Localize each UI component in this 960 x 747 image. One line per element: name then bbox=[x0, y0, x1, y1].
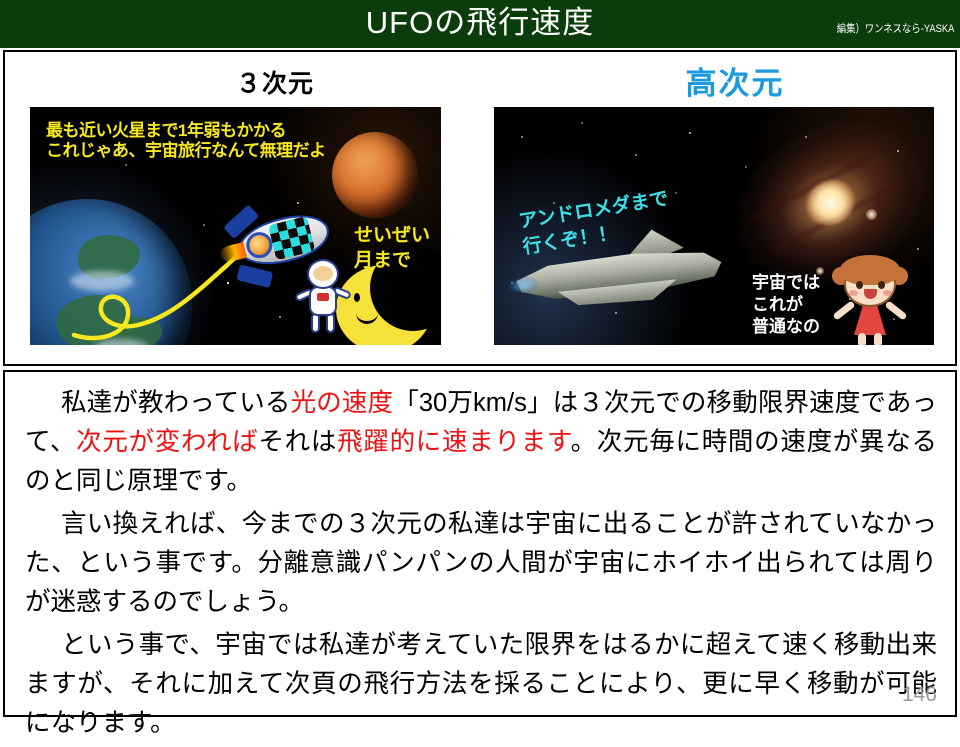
body-paragraph: 私達が教わっている光の速度「30万km/s」は３次元での移動限界速度であって、次… bbox=[25, 384, 937, 501]
companion-galaxy bbox=[866, 209, 877, 220]
body-paragraphs: 私達が教わっている光の速度「30万km/s」は３次元での移動限界速度であって、次… bbox=[25, 384, 937, 747]
plain-text: 私達が教わっている bbox=[61, 389, 291, 417]
highlighted-text: 光の速度 bbox=[291, 389, 394, 417]
slide-title-bar: UFOの飛行速度 編集）ワンネスなら-YASKA bbox=[0, 0, 960, 48]
mars-planet bbox=[332, 132, 418, 218]
heading-three-dimension: ３次元 bbox=[145, 64, 405, 100]
highlighted-text: 飛躍的に速まります bbox=[337, 428, 570, 456]
astronaut-icon bbox=[295, 259, 353, 335]
attribution-label: 編集）ワンネスなら-YASKA bbox=[836, 22, 954, 36]
comparison-panel: ３次元 高次元 bbox=[3, 50, 957, 366]
caption-mars-distance: 最も近い火星まで1年弱もかかる これじゃあ、宇宙旅行なんて無理だよ bbox=[46, 121, 326, 161]
photo-high-dimension-space: アンドロメダまで 行くぞ！！ 宇宙では これが 普通なの bbox=[494, 107, 934, 345]
caption-only-to-moon: せいぜい 月まで bbox=[354, 224, 430, 273]
page-title: UFOの飛行速度 bbox=[0, 4, 960, 42]
photo-three-dimension-space: 最も近い火星まで1年弱もかかる これじゃあ、宇宙旅行なんて無理だよ せいぜい 月… bbox=[30, 107, 441, 345]
body-paragraph: という事で、宇宙では私達が考えていた限界をはるかに超えて速く移動出来ますが、それ… bbox=[25, 626, 937, 743]
chibi-girl-icon bbox=[832, 259, 910, 345]
highlighted-text: 次元が変われば bbox=[76, 428, 258, 456]
body-paragraph: 言い換えれば、今までの３次元の私達は宇宙に出ることが許されていなかった、という事… bbox=[25, 505, 937, 622]
plain-text: という事で、宇宙では私達が考えていた限界をはるかに超えて速く移動出来ますが、それ… bbox=[25, 631, 937, 737]
plain-text: それは bbox=[258, 428, 337, 456]
body-text-panel: 私達が教わっている光の速度「30万km/s」は３次元での移動限界速度であって、次… bbox=[3, 370, 957, 717]
page-number: 146 bbox=[902, 683, 937, 707]
plain-text: 言い換えれば、今までの３次元の私達は宇宙に出ることが許されていなかった、という事… bbox=[25, 510, 937, 616]
slide-root: UFOの飛行速度 編集）ワンネスなら-YASKA ３次元 高次元 bbox=[0, 0, 960, 720]
caption-this-is-normal: 宇宙では これが 普通なの bbox=[752, 272, 820, 337]
heading-high-dimension: 高次元 bbox=[605, 58, 865, 103]
